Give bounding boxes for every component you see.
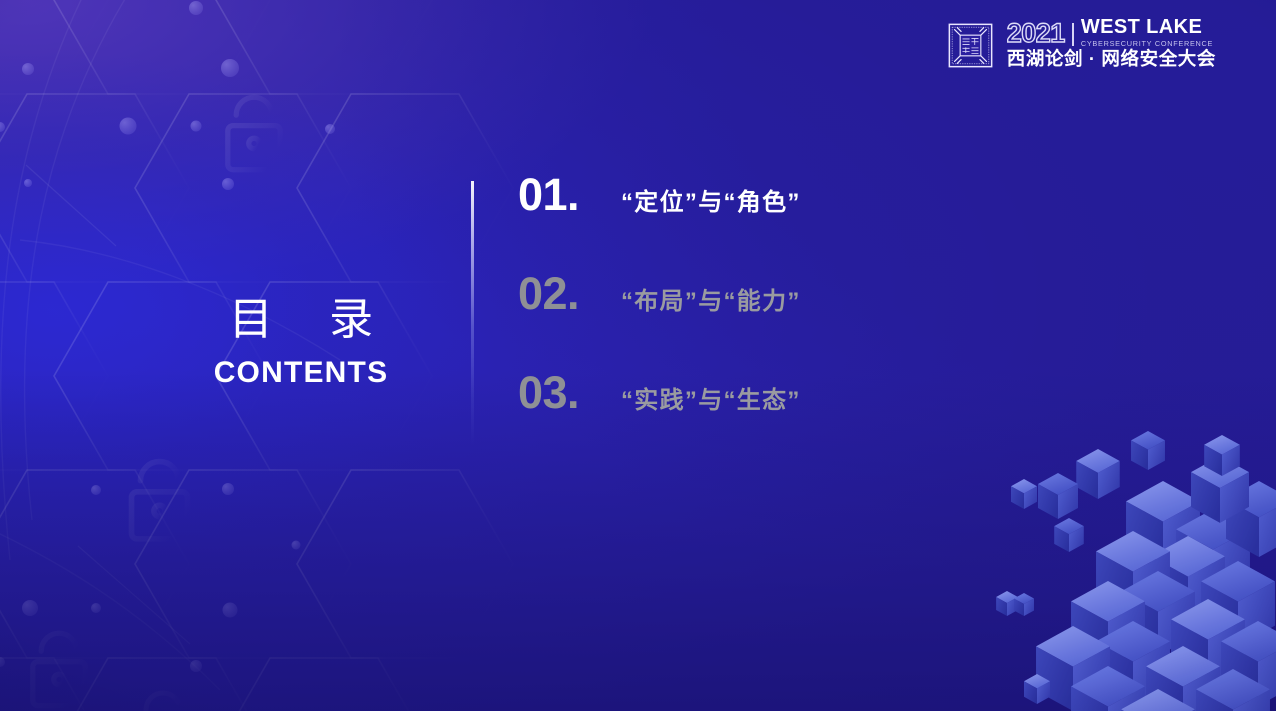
contents-item-label: “定位”与“角色”	[621, 191, 801, 215]
vertical-divider	[471, 181, 474, 445]
contents-list: 01. “定位”与“角色” 02. “布局”与“能力” 03. “实践”与“生态…	[518, 172, 998, 469]
page-title-chinese: 目 录	[118, 296, 484, 344]
contents-item-01[interactable]: 01. “定位”与“角色”	[518, 172, 998, 271]
contents-item-label: “实践”与“生态”	[621, 389, 801, 413]
contents-item-02[interactable]: 02. “布局”与“能力”	[518, 271, 998, 370]
logo-text-block: 2021 WEST LAKE CYBERSECURITY CONFERENCE …	[1007, 21, 1216, 69]
logo-year: 2021	[1007, 20, 1065, 47]
contents-item-number: 02.	[518, 271, 621, 316]
contents-item-number: 03.	[518, 370, 621, 415]
page-title: 目 录 CONTENTS	[118, 296, 484, 388]
logo-english-main: WEST LAKE	[1081, 17, 1213, 37]
contents-item-label: “布局”与“能力”	[621, 290, 801, 314]
logo-chinese: 西湖论剑 · 网络安全大会	[1007, 49, 1216, 69]
logo-english-sub: CYBERSECURITY CONFERENCE	[1081, 40, 1213, 47]
logo-top-row: 2021 WEST LAKE CYBERSECURITY CONFERENCE	[1007, 21, 1216, 47]
conference-logo: 2021 WEST LAKE CYBERSECURITY CONFERENCE …	[947, 21, 1216, 69]
page-title-english: CONTENTS	[118, 358, 484, 388]
logo-english-block: WEST LAKE CYBERSECURITY CONFERENCE	[1081, 17, 1213, 47]
contents-item-03[interactable]: 03. “实践”与“生态”	[518, 370, 998, 469]
west-lake-seal-emblem	[947, 22, 994, 69]
slide-canvas: 2021 WEST LAKE CYBERSECURITY CONFERENCE …	[0, 0, 1276, 711]
contents-item-number: 01.	[518, 172, 621, 217]
logo-divider	[1072, 23, 1074, 46]
